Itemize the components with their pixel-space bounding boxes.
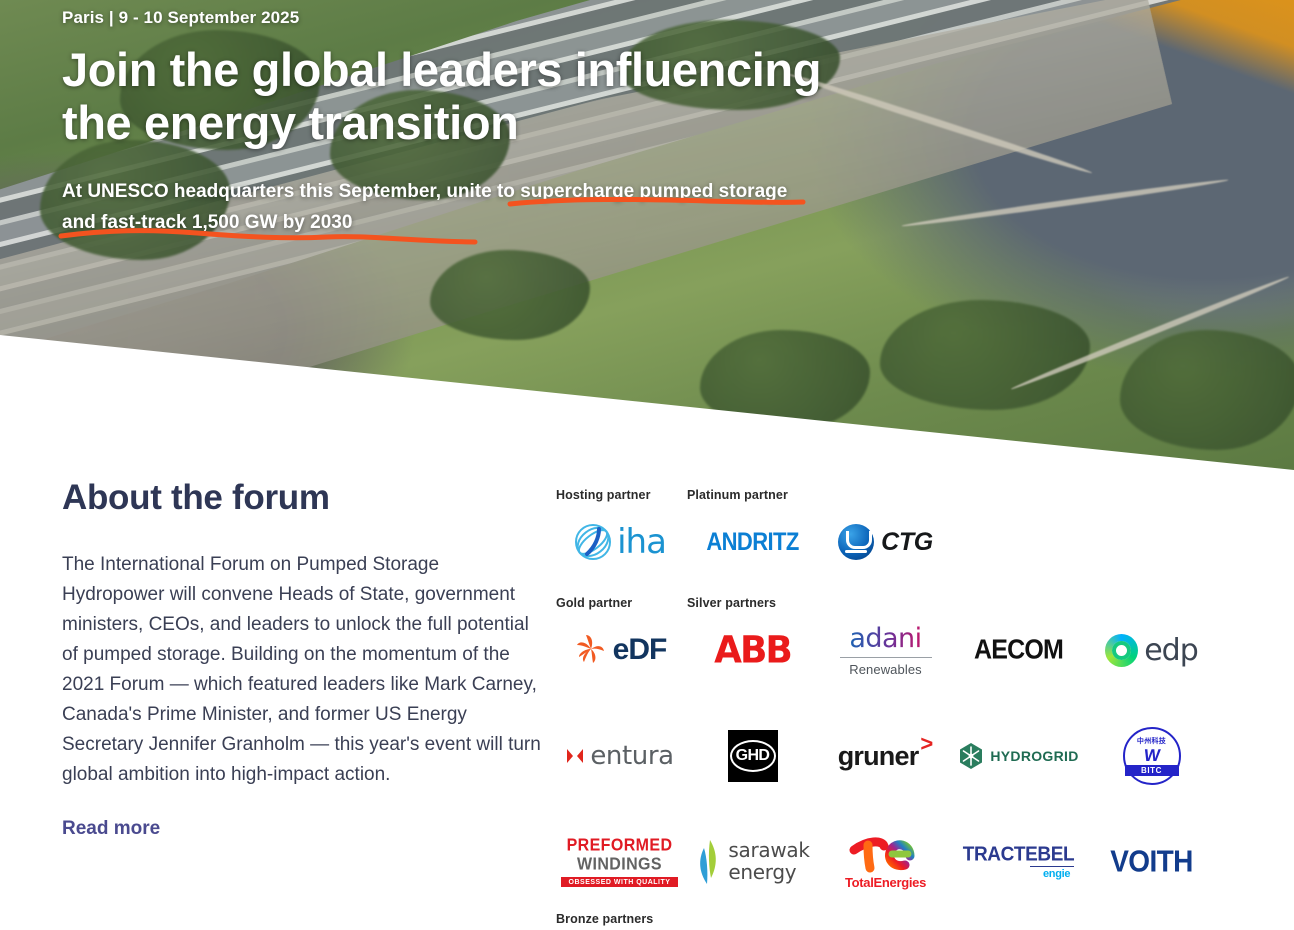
partner-label-row: Gold partner Silver partners	[553, 596, 1253, 614]
totalenergies-logo: TotalEnergies	[845, 834, 926, 890]
logo-cell-totalenergies[interactable]: TotalEnergies	[819, 826, 952, 898]
main-content: About the forum The International Forum …	[0, 470, 1294, 904]
preformed-windings-line1: PREFORMED	[567, 836, 673, 855]
sarawak-energy-logo: sarawak energy	[695, 838, 809, 886]
sarawak-energy-wordmark: sarawak energy	[728, 840, 809, 883]
partner-label-row: Hosting partner Platinum partner	[553, 488, 1253, 506]
row-spacer	[553, 792, 1253, 826]
logo-cell-andritz[interactable]: ANDRITZ	[686, 506, 819, 578]
entura-mark-icon	[565, 747, 585, 765]
bitc-emblem-icon: W	[1143, 747, 1159, 764]
ghd-logo: GHD	[728, 730, 778, 782]
ctg-emblem-icon	[838, 524, 874, 560]
edp-wordmark: edp	[1144, 633, 1198, 668]
tree-cluster	[430, 250, 590, 340]
logo-cell-entura[interactable]: entura	[553, 720, 686, 792]
bitc-wordmark: BITC	[1125, 765, 1179, 776]
logo-cell-abb[interactable]: ABB	[686, 614, 819, 686]
hero-copy: Paris | 9 - 10 September 2025 Join the g…	[62, 8, 922, 239]
sarawak-flame-icon	[695, 838, 721, 886]
tractebel-engie-logo: TRACTEBEL engie	[963, 844, 1074, 881]
hosting-partner-label: Hosting partner	[556, 488, 651, 502]
logo-cell-sarawak-energy[interactable]: sarawak energy	[686, 826, 819, 898]
gold-partner-label: Gold partner	[556, 596, 632, 610]
totalenergies-mark-icon	[848, 834, 922, 874]
adani-renewables-logo: adani Renewables	[840, 623, 932, 677]
adani-wordmark: adani	[849, 623, 921, 654]
logo-cell-hydrogrid[interactable]: HYDROGRID	[952, 720, 1085, 792]
andritz-logo: ANDRITZ	[706, 527, 798, 557]
partner-label-row: Bronze partners	[553, 912, 1253, 930]
bitc-logo: 中州科技 W BITC	[1123, 727, 1181, 785]
logo-cell-edp[interactable]: edp	[1085, 614, 1218, 686]
ghd-wordmark: GHD	[730, 740, 776, 772]
logo-cell-tractebel[interactable]: TRACTEBEL engie	[952, 826, 1085, 898]
ctg-wordmark: CTG	[881, 528, 933, 557]
logo-cell-voith[interactable]: VOITH	[1085, 826, 1218, 898]
partners-section: Hosting partner Platinum partner iha AND…	[553, 488, 1253, 930]
platinum-partner-label: Platinum partner	[687, 488, 788, 502]
preformed-windings-line2: WINDINGS	[577, 855, 662, 874]
hydrogrid-logo: HYDROGRID	[958, 742, 1078, 770]
hero-title: Join the global leaders influencing the …	[62, 44, 862, 149]
logo-cell-adani[interactable]: adani Renewables	[819, 614, 952, 686]
adani-divider	[840, 657, 932, 658]
gruner-chevron-icon: >	[920, 735, 933, 753]
about-section: About the forum The International Forum …	[62, 478, 542, 840]
abb-logo: ABB	[714, 628, 791, 671]
tractebel-wordmark: TRACTEBEL	[963, 843, 1074, 867]
logo-cell-aecom[interactable]: AECOM	[952, 614, 1085, 686]
adani-subtitle: Renewables	[849, 662, 922, 677]
hydrogrid-hex-icon	[958, 742, 984, 770]
iha-logo: iha	[573, 521, 666, 563]
preformed-windings-logo: PREFORMED WINDINGS OBSESSED WITH QUALITY	[561, 837, 679, 887]
iha-wordmark: iha	[617, 522, 666, 562]
logo-cell-bitc[interactable]: 中州科技 W BITC	[1085, 720, 1218, 792]
logo-row-gold-silver: eDF ABB adani Renewables AECOM edp	[553, 614, 1253, 686]
hero-subtitle: At UNESCO headquarters this September, u…	[62, 177, 822, 239]
tree-cluster	[880, 300, 1090, 410]
edp-spiral-icon	[1105, 634, 1138, 667]
preformed-windings-tagline: OBSESSED WITH QUALITY	[561, 877, 679, 887]
entura-logo: entura	[565, 741, 673, 771]
logo-cell-preformed-windings[interactable]: PREFORMED WINDINGS OBSESSED WITH QUALITY	[553, 826, 686, 898]
read-more-link[interactable]: Read more	[62, 818, 160, 840]
ctg-logo: CTG	[838, 524, 933, 560]
bronze-partner-label: Bronze partners	[556, 912, 653, 926]
logo-row-silver-2: entura GHD gruner >	[553, 720, 1253, 792]
hydrogrid-wordmark: HYDROGRID	[990, 748, 1078, 764]
logo-row-hosting-platinum: iha ANDRITZ CTG	[553, 506, 1253, 578]
voith-logo: VOITH	[1110, 845, 1193, 880]
logo-cell-iha[interactable]: iha	[553, 506, 686, 578]
logo-cell-ghd[interactable]: GHD	[686, 720, 819, 792]
hero-banner: Paris | 9 - 10 September 2025 Join the g…	[0, 0, 1294, 470]
row-spacer	[553, 686, 1253, 720]
tree-cluster	[1120, 330, 1294, 450]
about-body-text: The International Forum on Pumped Storag…	[62, 550, 542, 790]
entura-wordmark: entura	[590, 741, 673, 771]
engie-wordmark: engie	[1043, 868, 1070, 880]
hero-eyebrow: Paris | 9 - 10 September 2025	[62, 8, 922, 28]
sarawak-line2: energy	[728, 860, 796, 884]
page-title: About the forum	[62, 478, 542, 518]
aecom-logo: AECOM	[974, 634, 1063, 666]
edp-logo: edp	[1105, 633, 1198, 668]
iha-globe-icon	[573, 521, 615, 563]
logo-row-silver-3: PREFORMED WINDINGS OBSESSED WITH QUALITY…	[553, 826, 1253, 898]
totalenergies-wordmark: TotalEnergies	[845, 875, 926, 890]
edf-logo: eDF	[573, 632, 667, 668]
logo-cell-gruner[interactable]: gruner >	[819, 720, 952, 792]
sarawak-line1: sarawak	[728, 838, 809, 862]
bitc-chinese-name: 中州科技	[1137, 736, 1166, 746]
access-road	[901, 177, 1229, 229]
silver-partner-label: Silver partners	[687, 596, 776, 610]
logo-cell-ctg[interactable]: CTG	[819, 506, 952, 578]
gruner-logo: gruner >	[838, 741, 934, 772]
logo-cell-edf[interactable]: eDF	[553, 614, 686, 686]
edf-wordmark: eDF	[613, 633, 667, 667]
edf-sunburst-icon	[573, 632, 609, 668]
gruner-wordmark: gruner	[838, 741, 919, 772]
